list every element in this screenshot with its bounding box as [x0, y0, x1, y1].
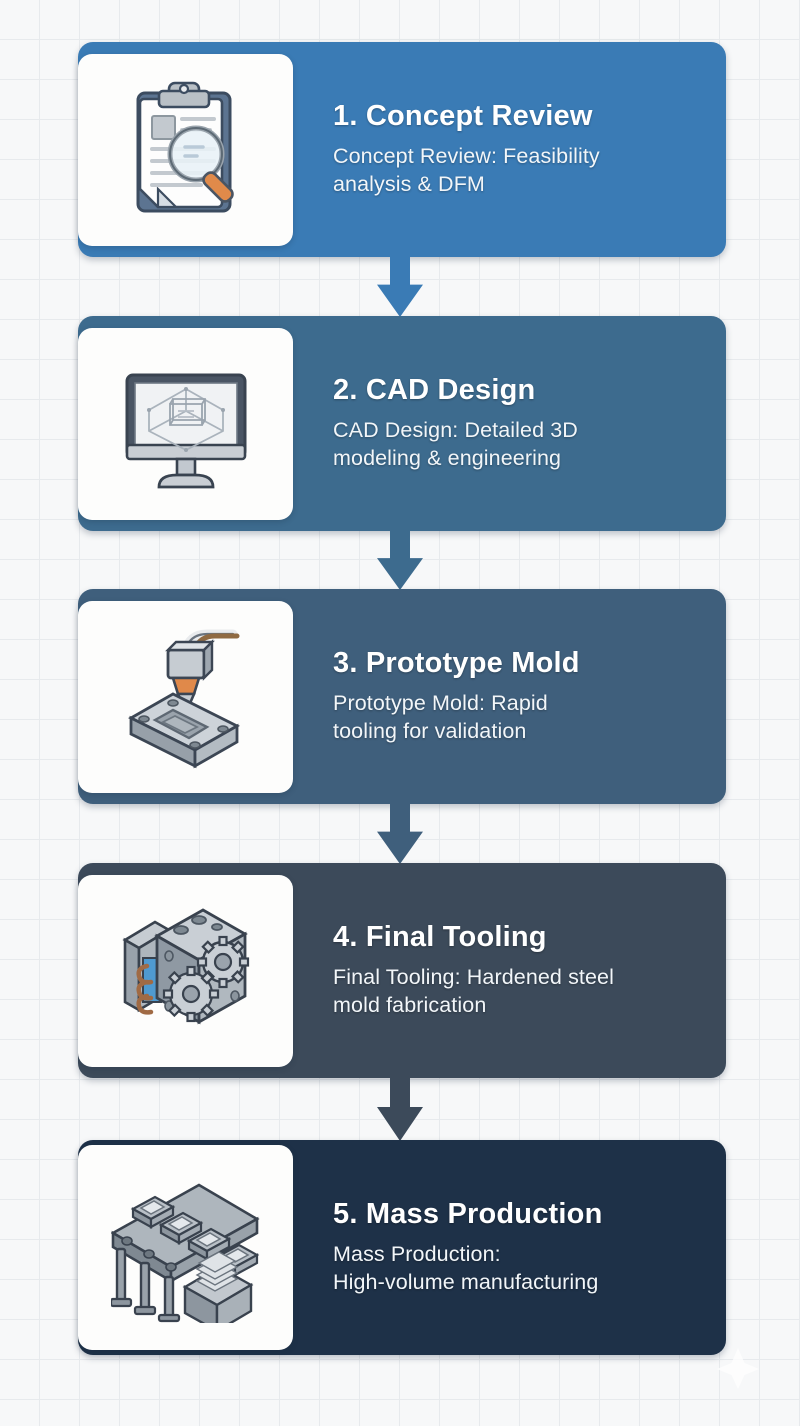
conveyor-belt-crate-icon: [111, 1173, 261, 1323]
step-description-4: Final Tooling: Hardened steelmold fabric…: [333, 964, 696, 1020]
step-description-1: Concept Review: Feasibilityanalysis & DF…: [333, 143, 696, 199]
step-title-3: 3. Prototype Mold: [333, 647, 696, 679]
step-text-block-5: 5. Mass ProductionMass Production:High-v…: [333, 1140, 696, 1355]
process-flowchart: 1. Concept ReviewConcept Review: Feasibi…: [0, 0, 800, 1426]
step-title-5: 5. Mass Production: [333, 1198, 696, 1230]
step-description-2: CAD Design: Detailed 3Dmodeling & engine…: [333, 417, 696, 473]
step-text-block-2: 2. CAD DesignCAD Design: Detailed 3Dmode…: [333, 316, 696, 531]
steel-mold-gears-icon: [111, 896, 261, 1046]
step-icon-panel-5: [78, 1145, 293, 1350]
extruder-nozzle-mold-icon: [111, 622, 261, 772]
flow-connector-arrow-1: [370, 257, 430, 317]
step-description-3: Prototype Mold: Rapidtooling for validat…: [333, 690, 696, 746]
flow-connector-arrow-4: [370, 1078, 430, 1141]
process-step-card-2[interactable]: 2. CAD DesignCAD Design: Detailed 3Dmode…: [78, 316, 726, 531]
diamond-sparkle-icon: [710, 1338, 766, 1399]
step-description-line-2: tooling for validation: [333, 718, 696, 746]
step-title-2: 2. CAD Design: [333, 374, 696, 406]
step-icon-panel-3: [78, 601, 293, 793]
process-step-card-4[interactable]: 4. Final ToolingFinal Tooling: Hardened …: [78, 863, 726, 1078]
step-description-line-1: Final Tooling: Hardened steel: [333, 964, 696, 992]
step-text-block-1: 1. Concept ReviewConcept Review: Feasibi…: [333, 42, 696, 257]
step-title-1: 1. Concept Review: [333, 100, 696, 132]
step-description-line-1: Mass Production:: [333, 1241, 696, 1269]
step-icon-panel-1: [78, 54, 293, 246]
step-description-line-2: mold fabrication: [333, 992, 696, 1020]
step-text-block-3: 3. Prototype MoldPrototype Mold: Rapidto…: [333, 589, 696, 804]
flow-connector-arrow-3: [370, 804, 430, 864]
step-description-line-2: modeling & engineering: [333, 445, 696, 473]
process-step-card-5[interactable]: 5. Mass ProductionMass Production:High-v…: [78, 1140, 726, 1355]
step-description-line-1: Concept Review: Feasibility: [333, 143, 696, 171]
step-description-5: Mass Production:High-volume manufacturin…: [333, 1241, 696, 1297]
monitor-wireframe-cube-icon: [111, 349, 261, 499]
process-step-card-3[interactable]: 3. Prototype MoldPrototype Mold: Rapidto…: [78, 589, 726, 804]
step-text-block-4: 4. Final ToolingFinal Tooling: Hardened …: [333, 863, 696, 1078]
step-description-line-1: CAD Design: Detailed 3D: [333, 417, 696, 445]
step-description-line-1: Prototype Mold: Rapid: [333, 690, 696, 718]
clipboard-magnifier-icon: [111, 75, 261, 225]
step-title-4: 4. Final Tooling: [333, 921, 696, 953]
step-icon-panel-2: [78, 328, 293, 520]
step-icon-panel-4: [78, 875, 293, 1067]
step-description-line-2: High-volume manufacturing: [333, 1269, 696, 1297]
flow-connector-arrow-2: [370, 531, 430, 590]
step-description-line-2: analysis & DFM: [333, 171, 696, 199]
process-step-card-1[interactable]: 1. Concept ReviewConcept Review: Feasibi…: [78, 42, 726, 257]
